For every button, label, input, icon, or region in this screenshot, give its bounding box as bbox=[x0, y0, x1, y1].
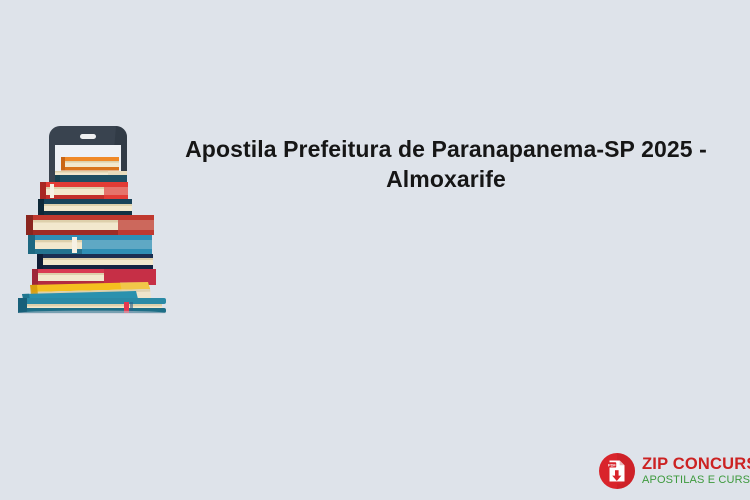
brand-name: ZIP CONCURSOS bbox=[642, 456, 750, 473]
book-blue bbox=[28, 235, 152, 254]
book-orange bbox=[61, 157, 119, 171]
stack-of-books-illustration bbox=[8, 122, 176, 314]
book-red bbox=[40, 182, 128, 199]
promo-banner: Apostila Prefeitura de Paranapanema-SP 2… bbox=[0, 0, 750, 500]
brand-logo[interactable]: PDF ZIP CONCURSOS APOSTILAS E CURSOS bbox=[598, 450, 744, 492]
book-teal-dark bbox=[55, 171, 127, 182]
book-midnight bbox=[37, 254, 153, 269]
pdf-download-badge-icon: PDF bbox=[598, 452, 636, 490]
page-title: Apostila Prefeitura de Paranapanema-SP 2… bbox=[176, 134, 716, 194]
brand-tagline: APOSTILAS E CURSOS bbox=[642, 475, 750, 486]
book-maroon bbox=[26, 215, 154, 235]
book-navy bbox=[38, 199, 132, 215]
brand-wordmark: ZIP CONCURSOS APOSTILAS E CURSOS bbox=[642, 456, 750, 487]
title-block: Apostila Prefeitura de Paranapanema-SP 2… bbox=[176, 134, 716, 194]
svg-text:PDF: PDF bbox=[608, 462, 616, 467]
